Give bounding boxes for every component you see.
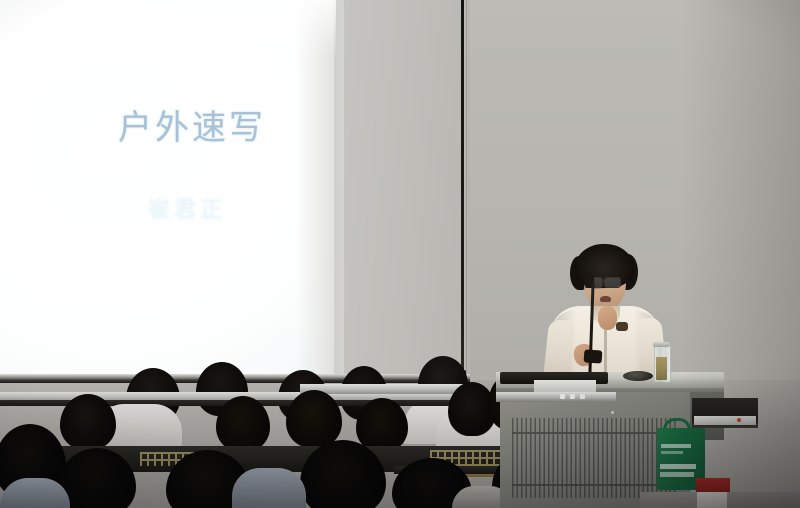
projection-screen (0, 0, 466, 382)
projection-top-glow (0, 0, 336, 56)
projector-lit-area (0, 0, 336, 374)
projection-falloff (296, 0, 344, 374)
microphone-body (584, 349, 603, 363)
lecture-hall-photo: 户外速写 崔君正 (0, 0, 800, 508)
wall-shadow (680, 0, 800, 508)
audience-head (60, 394, 116, 450)
dark-disc (623, 371, 653, 381)
glasses-bridge (601, 280, 605, 282)
glasses-lens-right (604, 277, 621, 288)
podium-perforation (512, 418, 676, 498)
slide-subtitle: 崔君正 (148, 192, 226, 224)
speaker-hand-right (598, 306, 617, 330)
tumbler-lid (653, 342, 670, 347)
audience-head (356, 398, 408, 452)
wristwatch (616, 322, 628, 331)
audience-head (216, 396, 270, 452)
audience-head (286, 390, 342, 448)
podium-control-strip[interactable] (496, 392, 616, 402)
slide-title: 户外速写 (118, 100, 266, 149)
projection-screen-unlit (334, 0, 466, 382)
speaker (546, 244, 664, 384)
screen-pull-cord (461, 0, 464, 380)
console-button[interactable] (560, 394, 565, 399)
audience-body (232, 468, 306, 508)
console-button[interactable] (570, 394, 575, 399)
console-button[interactable] (580, 394, 585, 399)
tea-liquid (656, 357, 667, 380)
podium-screw (611, 411, 614, 414)
